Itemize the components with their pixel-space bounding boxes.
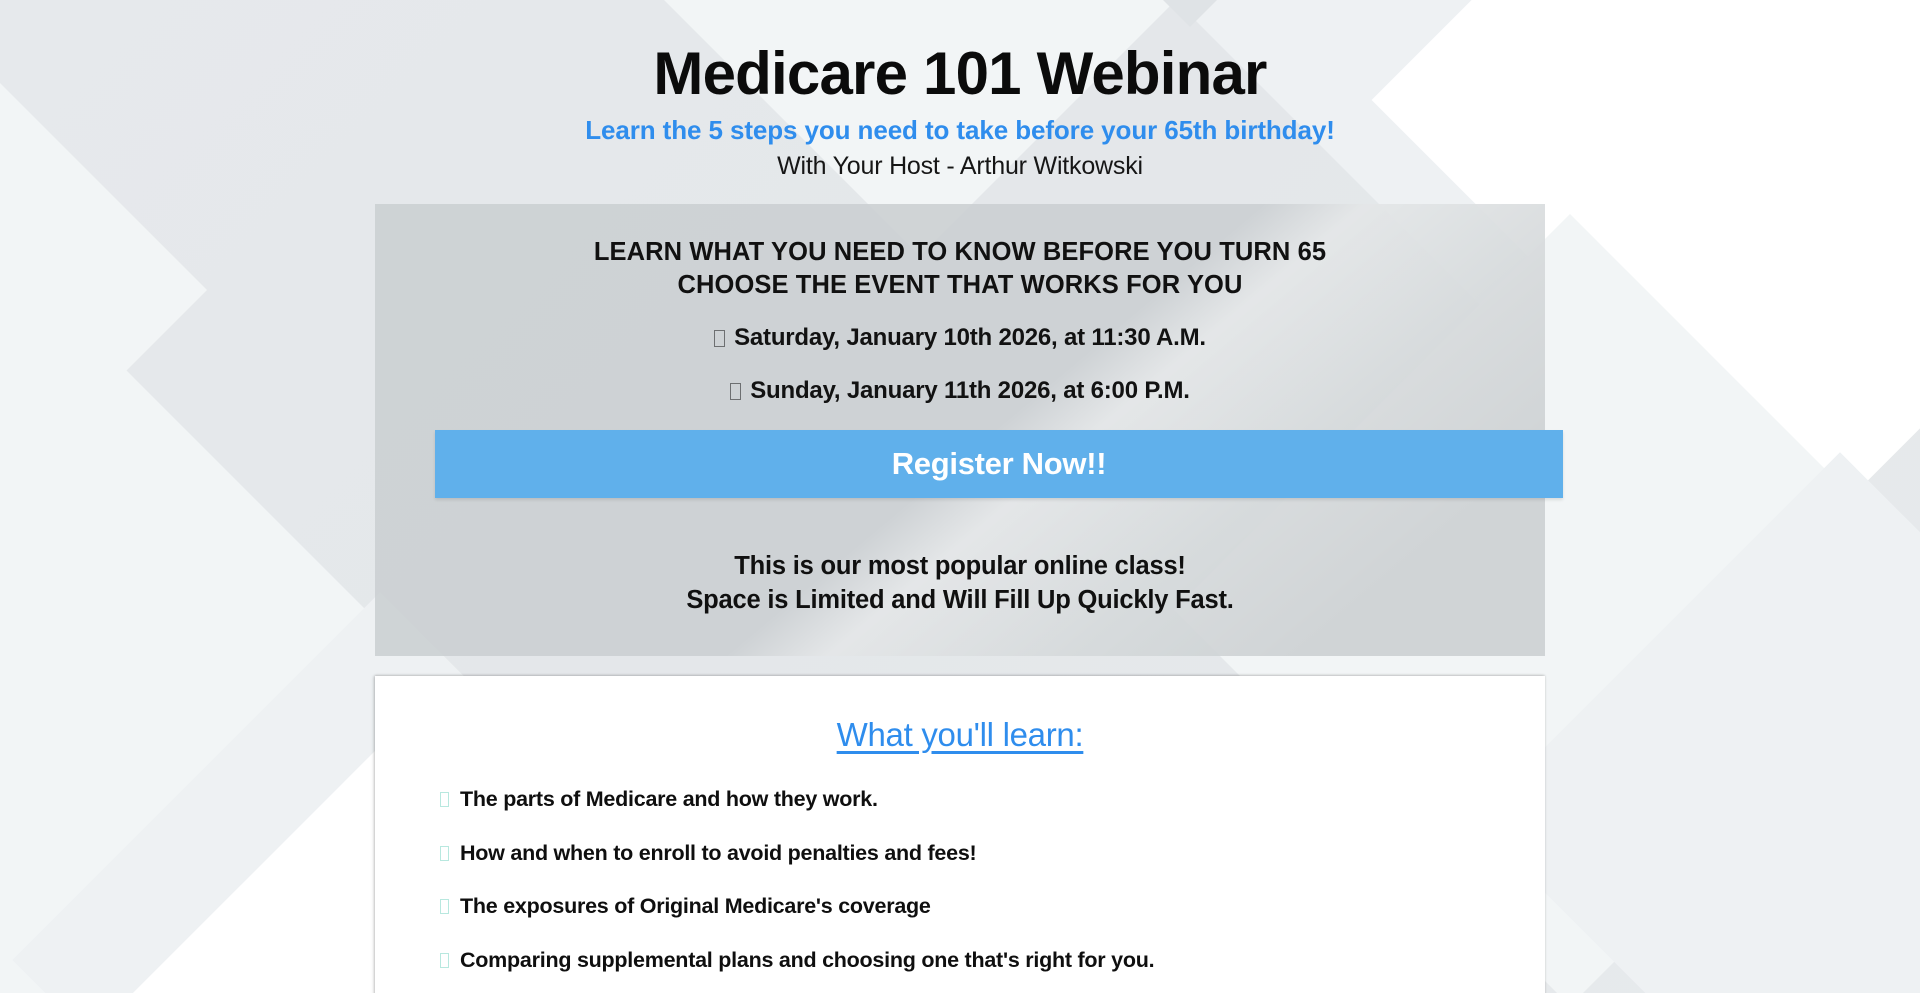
page-header: Medicare 101 Webinar Learn the 5 steps y… (0, 0, 1920, 181)
event-panel-heading: LEARN WHAT YOU NEED TO KNOW BEFORE YOU T… (435, 236, 1485, 302)
missing-glyph-box-icon (730, 383, 741, 400)
event-list-item: Saturday, January 10th 2026, at 11:30 A.… (435, 324, 1485, 353)
event-list: Saturday, January 10th 2026, at 11:30 A.… (435, 324, 1485, 406)
event-panel-heading-line-1: LEARN WHAT YOU NEED TO KNOW BEFORE YOU T… (435, 236, 1485, 269)
page-title: Medicare 101 Webinar (0, 40, 1920, 107)
missing-glyph-box-icon (440, 899, 449, 914)
learn-list-item: The exposures of Original Medicare's cov… (440, 894, 1485, 920)
event-date-label: Saturday, January 10th 2026, at 11:30 A.… (734, 324, 1206, 351)
urgency-text: This is our most popular online class! S… (435, 550, 1485, 618)
missing-glyph-box-icon (440, 846, 449, 861)
event-date-label: Sunday, January 11th 2026, at 6:00 P.M. (750, 377, 1190, 404)
learn-item-label: The parts of Medicare and how they work. (460, 787, 878, 811)
learn-item-label: Comparing supplemental plans and choosin… (460, 948, 1154, 972)
missing-glyph-box-icon (440, 953, 449, 968)
event-panel-heading-line-2: CHOOSE THE EVENT THAT WORKS FOR YOU (435, 269, 1485, 302)
host-line: With Your Host - Arthur Witkowski (0, 152, 1920, 181)
learn-list-item: How and when to enroll to avoid penaltie… (440, 841, 1485, 867)
what-you-will-learn-card: What you'll learn: The parts of Medicare… (375, 676, 1545, 993)
landing-page: Medicare 101 Webinar Learn the 5 steps y… (0, 0, 1920, 993)
event-list-item: Sunday, January 11th 2026, at 6:00 P.M. (435, 377, 1485, 406)
learn-item-label: How and when to enroll to avoid penaltie… (460, 841, 976, 865)
learn-list-item: Comparing supplemental plans and choosin… (440, 948, 1485, 974)
register-now-button[interactable]: Register Now!! (435, 430, 1563, 498)
learn-list-item: The parts of Medicare and how they work. (440, 787, 1485, 813)
missing-glyph-box-icon (440, 792, 449, 807)
page-subtitle: Learn the 5 steps you need to take befor… (0, 115, 1920, 146)
learn-item-label: The exposures of Original Medicare's cov… (460, 894, 931, 918)
event-panel: LEARN WHAT YOU NEED TO KNOW BEFORE YOU T… (375, 204, 1545, 656)
missing-glyph-box-icon (714, 330, 725, 347)
learn-list: The parts of Medicare and how they work.… (435, 787, 1485, 993)
urgency-line-1: This is our most popular online class! (435, 550, 1485, 584)
learn-section-title: What you'll learn: (435, 716, 1485, 754)
urgency-line-2: Space is Limited and Will Fill Up Quickl… (435, 584, 1485, 618)
